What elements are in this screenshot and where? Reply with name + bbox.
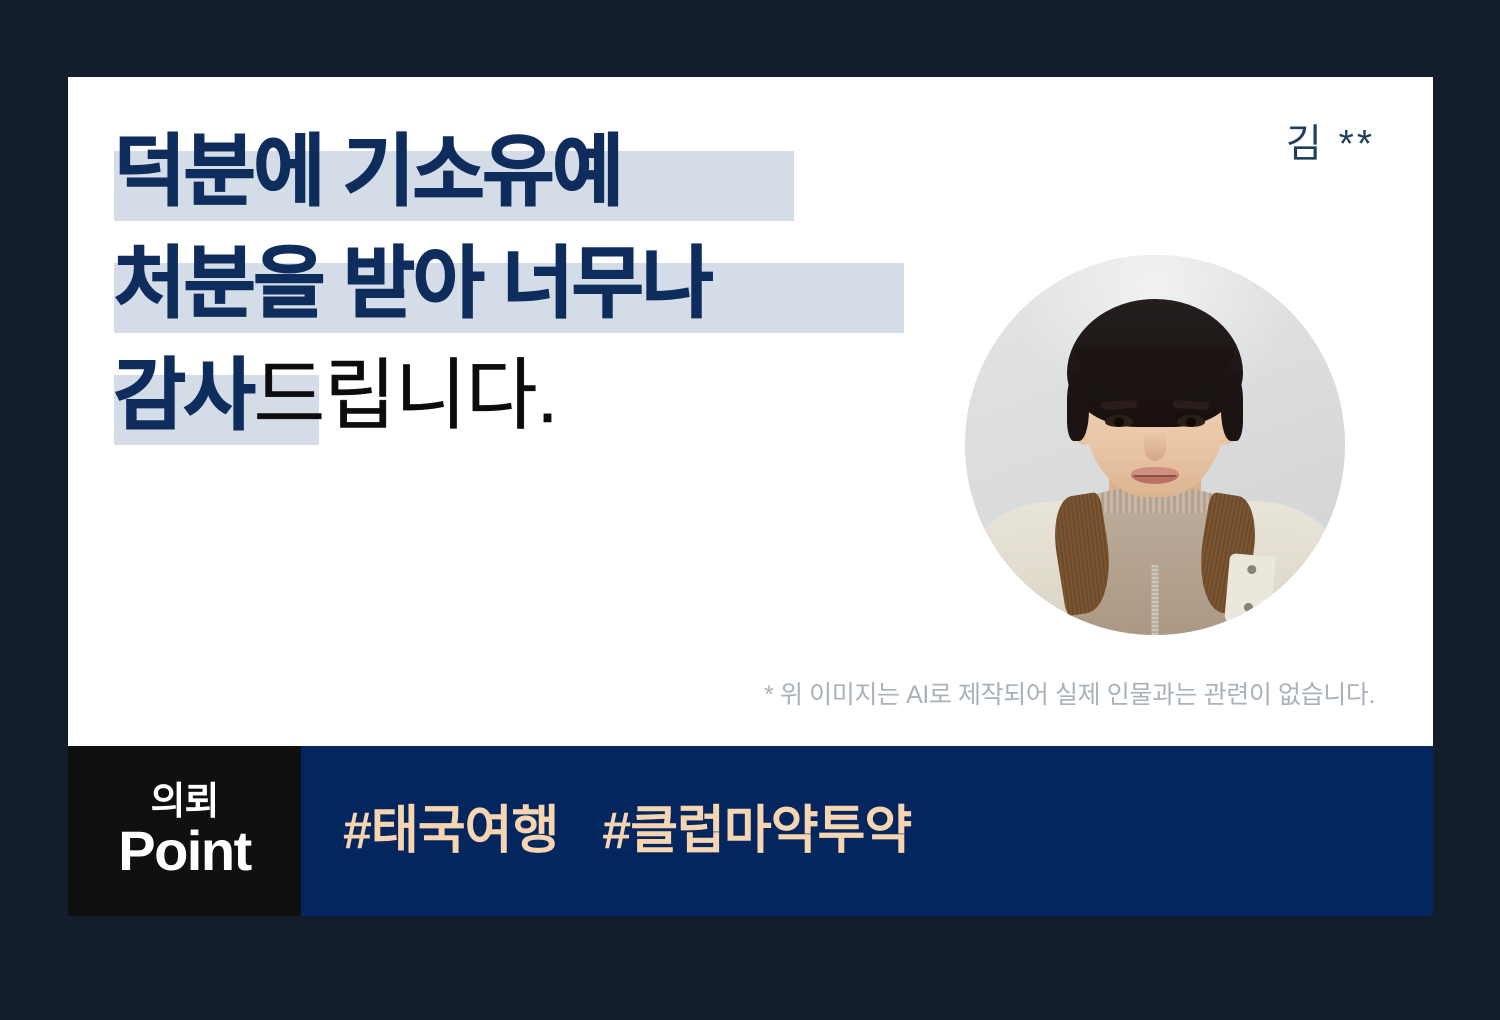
headline-line-1: 덕분에 기소유예 <box>114 115 994 227</box>
headline-text-3-plain: 드립니다. <box>254 339 558 451</box>
hair-side-left <box>1067 373 1089 441</box>
jacket-zipper <box>1152 565 1159 635</box>
jacket-pocket <box>1224 553 1276 627</box>
headline-line-3: 감사 드립니다. <box>114 339 994 451</box>
brand-logo-korean: 의뢰 <box>151 783 219 821</box>
brand-logo: 의뢰 Point <box>68 746 301 916</box>
client-portrait-avatar <box>965 255 1345 635</box>
pupil-right <box>1186 417 1196 427</box>
headline: 덕분에 기소유예 처분을 받아 너무나 감사 드립니다. <box>114 115 994 451</box>
testimonial-card: 김 ** 덕분에 기소유예 처분을 받아 너무나 감사 드립니다. <box>68 77 1433 916</box>
headline-text-3-emphasis: 감사 <box>114 339 254 451</box>
headline-line-2: 처분을 받아 너무나 <box>114 227 994 339</box>
portrait-photo <box>965 255 1345 635</box>
headline-text-2: 처분을 받아 너무나 <box>114 227 711 339</box>
footer-bar: 의뢰 Point #태국여행 #클럽마약투약 <box>68 746 1433 916</box>
brand-logo-latin: Point <box>118 823 250 879</box>
pupil-left <box>1114 417 1124 427</box>
hashtag-item-1[interactable]: #태국여행 <box>343 805 558 857</box>
hashtag-item-2[interactable]: #클럽마약투약 <box>602 805 911 857</box>
card-body: 김 ** 덕분에 기소유예 처분을 받아 너무나 감사 드립니다. <box>68 77 1433 747</box>
hair-side-right <box>1221 373 1243 441</box>
client-name: 김 ** <box>1286 125 1375 164</box>
ai-image-disclaimer: * 위 이미지는 AI로 제작되어 실제 인물과는 관련이 없습니다. <box>764 683 1375 708</box>
hashtag-list: #태국여행 #클럽마약투약 <box>301 746 1433 916</box>
headline-text-1: 덕분에 기소유예 <box>114 115 622 227</box>
nose <box>1144 433 1166 461</box>
lip-line <box>1134 475 1176 477</box>
